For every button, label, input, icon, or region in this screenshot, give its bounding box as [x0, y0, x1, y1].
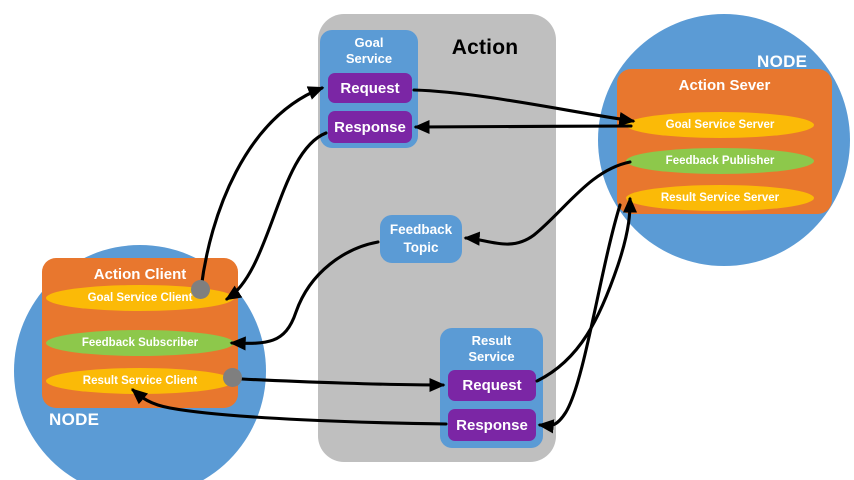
result-service-title-line2: Service: [468, 349, 514, 364]
goal-service-title-line1: Goal: [355, 35, 384, 50]
goal-service-title: Goal Service: [320, 35, 418, 68]
goal-service-title-line2: Service: [346, 51, 392, 66]
feedback-topic-title-line2: Topic: [404, 240, 439, 255]
feedback-topic-box[interactable]: Feedback Topic: [380, 215, 462, 263]
feedback-publisher-ellipse[interactable]: Feedback Publisher: [626, 148, 814, 174]
diagram-canvas: Action NODE Action Client Goal Service C…: [0, 0, 854, 480]
goal-service-client-connector-dot: [191, 280, 210, 299]
feedback-subscriber-ellipse[interactable]: Feedback Subscriber: [46, 330, 234, 356]
feedback-topic-title: Feedback Topic: [390, 221, 452, 256]
result-service-request-chip[interactable]: Request: [448, 370, 536, 401]
result-service-client-connector-dot: [223, 368, 242, 387]
action-group-label: Action: [420, 36, 550, 60]
action-server-title: Action Sever: [617, 77, 832, 94]
node-label-client: NODE: [49, 410, 99, 430]
result-service-title-line1: Result: [472, 333, 512, 348]
action-client-title: Action Client: [42, 266, 238, 283]
goal-service-server-ellipse[interactable]: Goal Service Server: [626, 112, 814, 138]
result-service-response-chip[interactable]: Response: [448, 409, 536, 441]
goal-service-request-chip[interactable]: Request: [328, 73, 412, 103]
goal-service-response-chip[interactable]: Response: [328, 111, 412, 143]
result-service-title: Result Service: [440, 333, 543, 366]
result-service-server-ellipse[interactable]: Result Service Server: [626, 185, 814, 211]
node-label-server: NODE: [757, 52, 807, 72]
feedback-topic-title-line1: Feedback: [390, 222, 452, 237]
arrow-goal-response-to-client: [227, 133, 326, 299]
result-service-client-ellipse[interactable]: Result Service Client: [46, 368, 234, 394]
